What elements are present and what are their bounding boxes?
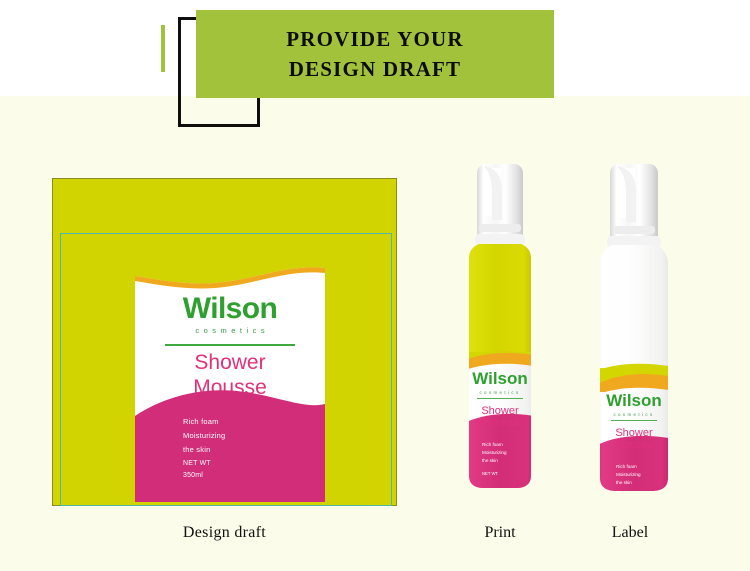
print-product-line-2: Mousse [481,417,520,429]
print-brand-subtitle: cosmetics [479,390,520,395]
label-bottom-wave-graphic [135,382,325,502]
print-desc-line-2: Moisturizing [482,450,507,455]
print-net-weight: NET WT [482,471,498,476]
label-top-wave-graphic [135,250,325,292]
print-product-line-1: Shower [481,405,519,417]
print-brand-name: Wilson [472,369,528,388]
label-product-line-2-bottle: Mousse [615,439,654,451]
label-brand-name: Wilson [135,294,325,324]
label-net-weight-value: 350ml [183,470,211,482]
label-brand-name-bottle: Wilson [606,391,662,410]
print-bottle-pump-cap [475,164,525,246]
label-divider-rule [165,344,295,346]
design-draft-caption: Design draft [52,524,397,542]
print-desc-line-3: the skin [482,458,498,463]
label-product-line-1: Shower [135,351,325,376]
label-brand-subtitle-bottle: cosmetics [613,412,654,417]
page-title: PROVIDE YOUR DESIGN DRAFT [196,10,554,98]
label-bottle-image: Wilson cosmetics Shower Mousse Rich foam… [588,146,680,496]
label-desc-line-3-bottle: the skin [616,480,632,485]
design-draft-label-artwork: Wilson cosmetics Shower Mousse Rich foam… [135,250,325,502]
label-net-weight-caption: NET WT [183,458,211,470]
label-description: Rich foam Moisturizing the skin [183,415,225,457]
print-caption: Print [430,524,570,542]
label-caption: Label [560,524,700,542]
label-desc-line-1-bottle: Rich foam [616,464,637,469]
label-net-weight: NET WT 350ml [183,458,211,481]
page-title-line-2: DESIGN DRAFT [289,54,462,84]
label-brand-subtitle: cosmetics [135,326,325,335]
header-accent-bar [161,25,165,72]
label-desc-line-1: Rich foam [183,415,225,429]
label-desc-line-2: Moisturizing [183,429,225,443]
page-title-line-1: PROVIDE YOUR [286,24,464,54]
label-desc-line-3: the skin [183,443,225,457]
print-bottle-image: Wilson cosmetics Shower Mousse Rich foam… [455,146,545,496]
label-bottle-body [588,244,680,494]
label-desc-line-2-bottle: Moisturizing [616,472,641,477]
print-desc-line-1: Rich foam [482,442,503,447]
label-bottle-pump-cap [607,164,661,248]
page-root: PROVIDE YOUR DESIGN DRAFT Wilson cosmeti… [0,0,750,571]
print-divider-rule [477,398,523,399]
label-product-line-1-bottle: Shower [615,427,653,439]
label-divider-rule-bottle [611,420,657,421]
